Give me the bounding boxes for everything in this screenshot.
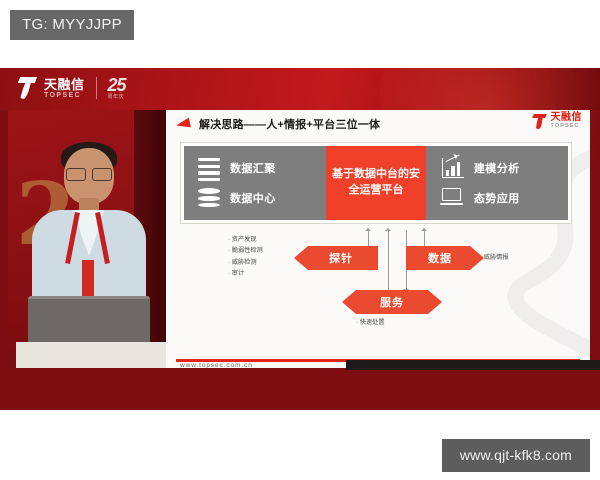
- presenter-badge: [82, 260, 94, 296]
- stack-icon: [198, 158, 220, 178]
- topsec-mark-icon: [18, 76, 37, 100]
- slide-topsec-logo: 天融信 TOPSEC: [533, 113, 583, 130]
- slide-title: 解决思路——人+情报+平台三位一体: [199, 116, 380, 132]
- band-left-panel: 数据汇聚 数据中心: [184, 146, 326, 220]
- anniversary-caption: 周年庆: [108, 95, 126, 100]
- probe-bullet-2: 威胁检测: [228, 257, 263, 268]
- flow-diagram: 资产发现 脆弱性检测 威胁检测 审计 威胁情报 告警研判 快速处置 探针 数据 …: [166, 228, 590, 348]
- slide-brand-en: TOPSEC: [551, 124, 583, 130]
- presenter-video-area: 2: [8, 110, 168, 368]
- band-item-modeling-analysis: 建模分析: [442, 158, 568, 178]
- band-item-situation-application: 态势应用: [442, 188, 568, 208]
- podium-laptop: [28, 296, 150, 347]
- banner-brand-en: TOPSEC: [44, 92, 85, 99]
- header-triangle-icon: [175, 118, 191, 131]
- footer-url: www.topsec.com.cn: [180, 362, 253, 368]
- band-right-panel: 建模分析 态势应用: [426, 146, 568, 220]
- band-right-label-0: 建模分析: [474, 160, 520, 176]
- probe-bullet-3: 审计: [228, 268, 263, 279]
- slide-brand-cn: 天融信: [551, 113, 583, 123]
- tg-watermark-tag: TG: MYYJJPP: [10, 10, 134, 40]
- probe-bullet-list: 资产发现 脆弱性检测 威胁检测 审计: [228, 234, 263, 280]
- banner-topsec-logo: 天融信 TOPSEC 25 周年庆: [18, 76, 126, 100]
- anniversary-number: 25: [108, 76, 126, 94]
- podium: [16, 342, 166, 368]
- banner-brand-cn: 天融信: [44, 78, 85, 91]
- conference-banner: 天融信 TOPSEC 25 周年庆: [0, 68, 600, 110]
- arrow-service-up: [388, 230, 389, 294]
- band-left-label-0: 数据汇聚: [230, 160, 276, 176]
- database-icon: [198, 188, 220, 208]
- band-right-label-1: 态势应用: [474, 190, 520, 206]
- stage-dark-strip: [346, 360, 600, 370]
- service-bullet-1: 快速处置: [356, 317, 385, 328]
- probe-chevron: 探针: [294, 246, 378, 270]
- band-item-data-center: 数据中心: [198, 188, 326, 208]
- band-left-label-1: 数据中心: [230, 190, 276, 206]
- topsec-mark-icon-small: [533, 113, 547, 130]
- band-center-platform: 基于数据中台的安全运营平台: [326, 146, 426, 220]
- site-watermark: www.qjt-kfk8.com: [442, 439, 590, 472]
- presenter-glasses: [66, 168, 112, 179]
- screenshot-stage: TG: MYYJJPP 天融信 TOPSEC 25 周年庆 2: [0, 0, 600, 480]
- data-bullet-0: 威胁情报: [480, 252, 509, 263]
- service-chevron: 服务: [342, 290, 442, 314]
- probe-bullet-0: 资产发现: [228, 234, 263, 245]
- data-bullet-list: 威胁情报: [480, 252, 509, 263]
- slide-header: 解决思路——人+情报+平台三位一体 天融信 TOPSEC: [166, 110, 590, 138]
- band-item-data-aggregation: 数据汇聚: [198, 158, 326, 178]
- band-center-label: 基于数据中台的安全运营平台: [326, 167, 426, 199]
- platform-band: 数据汇聚 数据中心 基于数据中台的安全运营平台: [180, 142, 572, 224]
- probe-bullet-1: 脆弱性检测: [228, 245, 263, 256]
- bar-chart-icon: [442, 158, 464, 178]
- presentation-slide: 解决思路——人+情报+平台三位一体 天融信 TOPSEC: [166, 110, 590, 368]
- data-chevron: 数据: [406, 246, 484, 270]
- video-frame[interactable]: 天融信 TOPSEC 25 周年庆 2: [0, 68, 600, 410]
- laptop-icon: [442, 188, 464, 208]
- logo-divider: [96, 77, 97, 99]
